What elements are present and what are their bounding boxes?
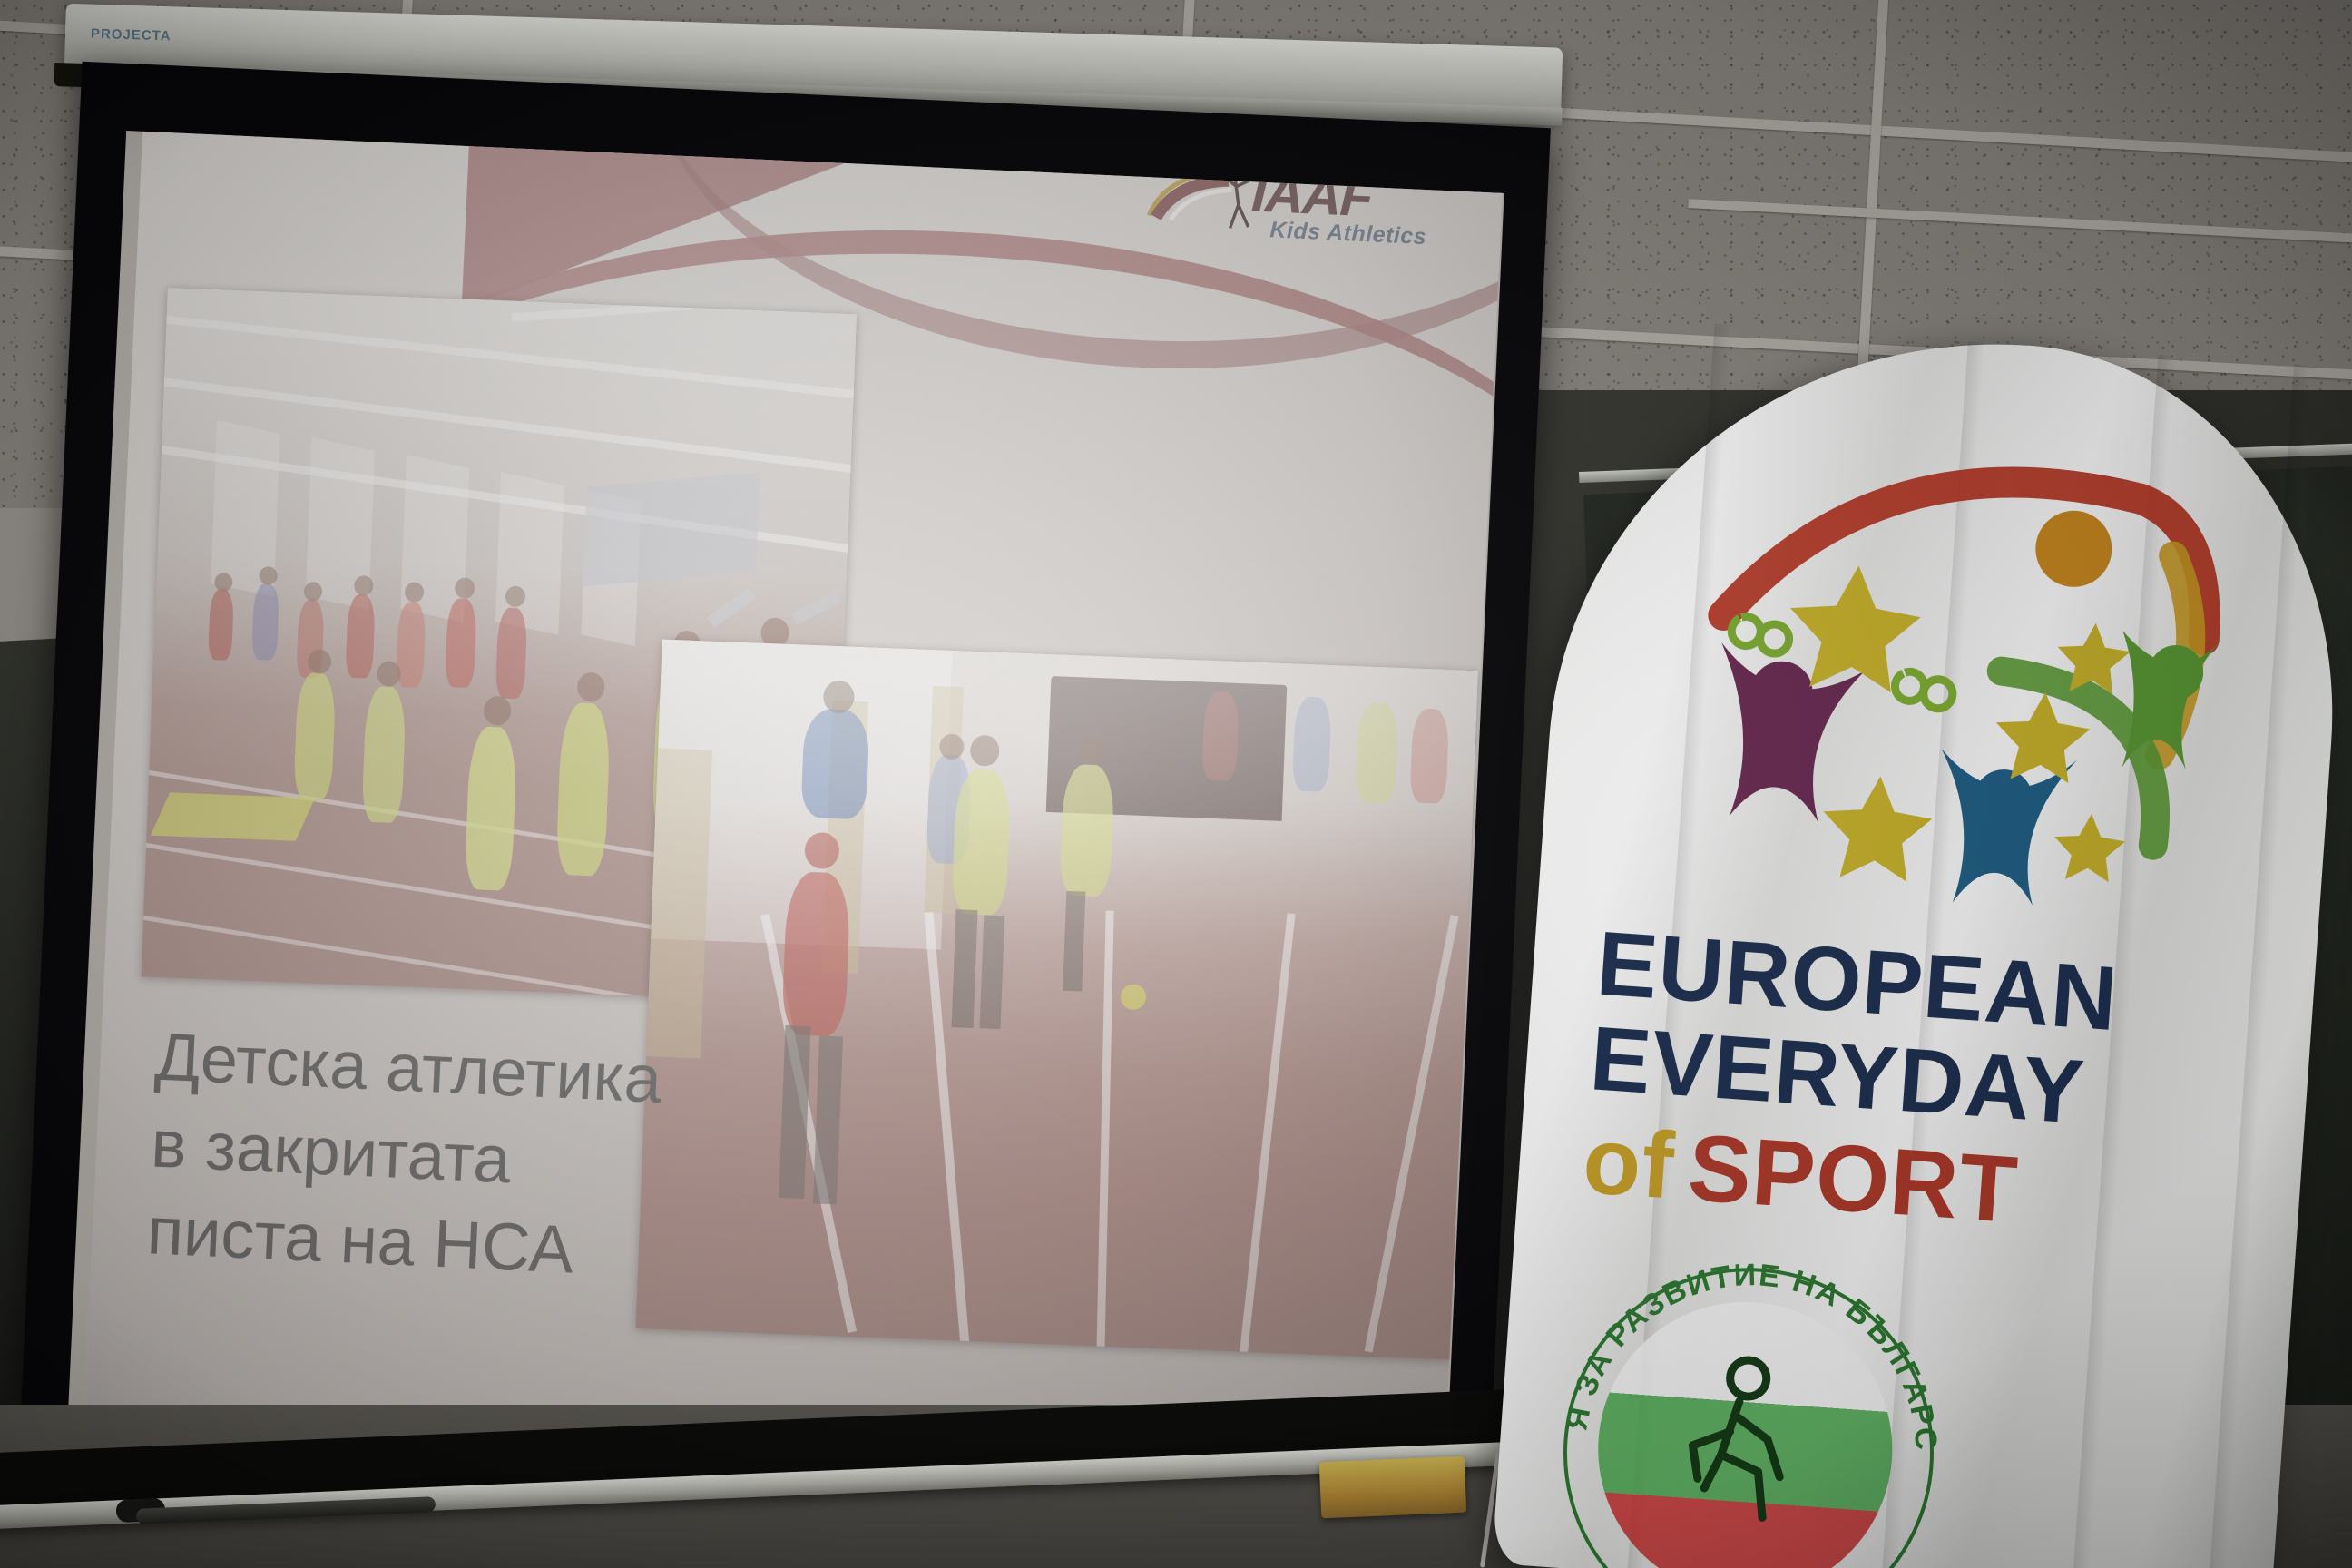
screen-brand-label: PROJECTA [91, 26, 171, 44]
association-logo: АСОЦИАЦИЯ ЗА РАЗВИТИЕ НА БЪЛГАРСКИЯ СПОР… [1554, 1255, 1975, 1568]
banner-title: EUROPEAN EVERYDAY ofSPORT [1580, 916, 2270, 1257]
photo-scene: PROJECTA [0, 0, 2352, 1568]
screen-surface: IAAF Kids Athletics [67, 131, 1504, 1498]
board-eraser [1319, 1456, 1466, 1519]
eeds-emblem-logo [1641, 385, 2238, 931]
figure-orange-head [2033, 508, 2115, 590]
association-ring-label: АСОЦИАЦИЯ ЗА РАЗВИТИЕ НА БЪЛГАРСКИЯ СПОР… [1546, 1242, 1953, 1457]
projector-screen: PROJECTA [0, 0, 1609, 1568]
event-banner: EUROPEAN EVERYDAY ofSPORT [1490, 314, 2352, 1568]
slide-caption: Детска атлетика в закритата писта на НСА [145, 1014, 846, 1307]
presentation-slide: IAAF Kids Athletics [83, 131, 1504, 1498]
association-ring-text: АСОЦИАЦИЯ ЗА РАЗВИТИЕ НА БЪЛГАРСКИЯ СПОР… [1545, 1242, 1952, 1568]
star-group [1772, 561, 2143, 897]
banner-title-of: of [1580, 1108, 1678, 1220]
iaaf-tagline: Kids Athletics [1269, 217, 1427, 250]
